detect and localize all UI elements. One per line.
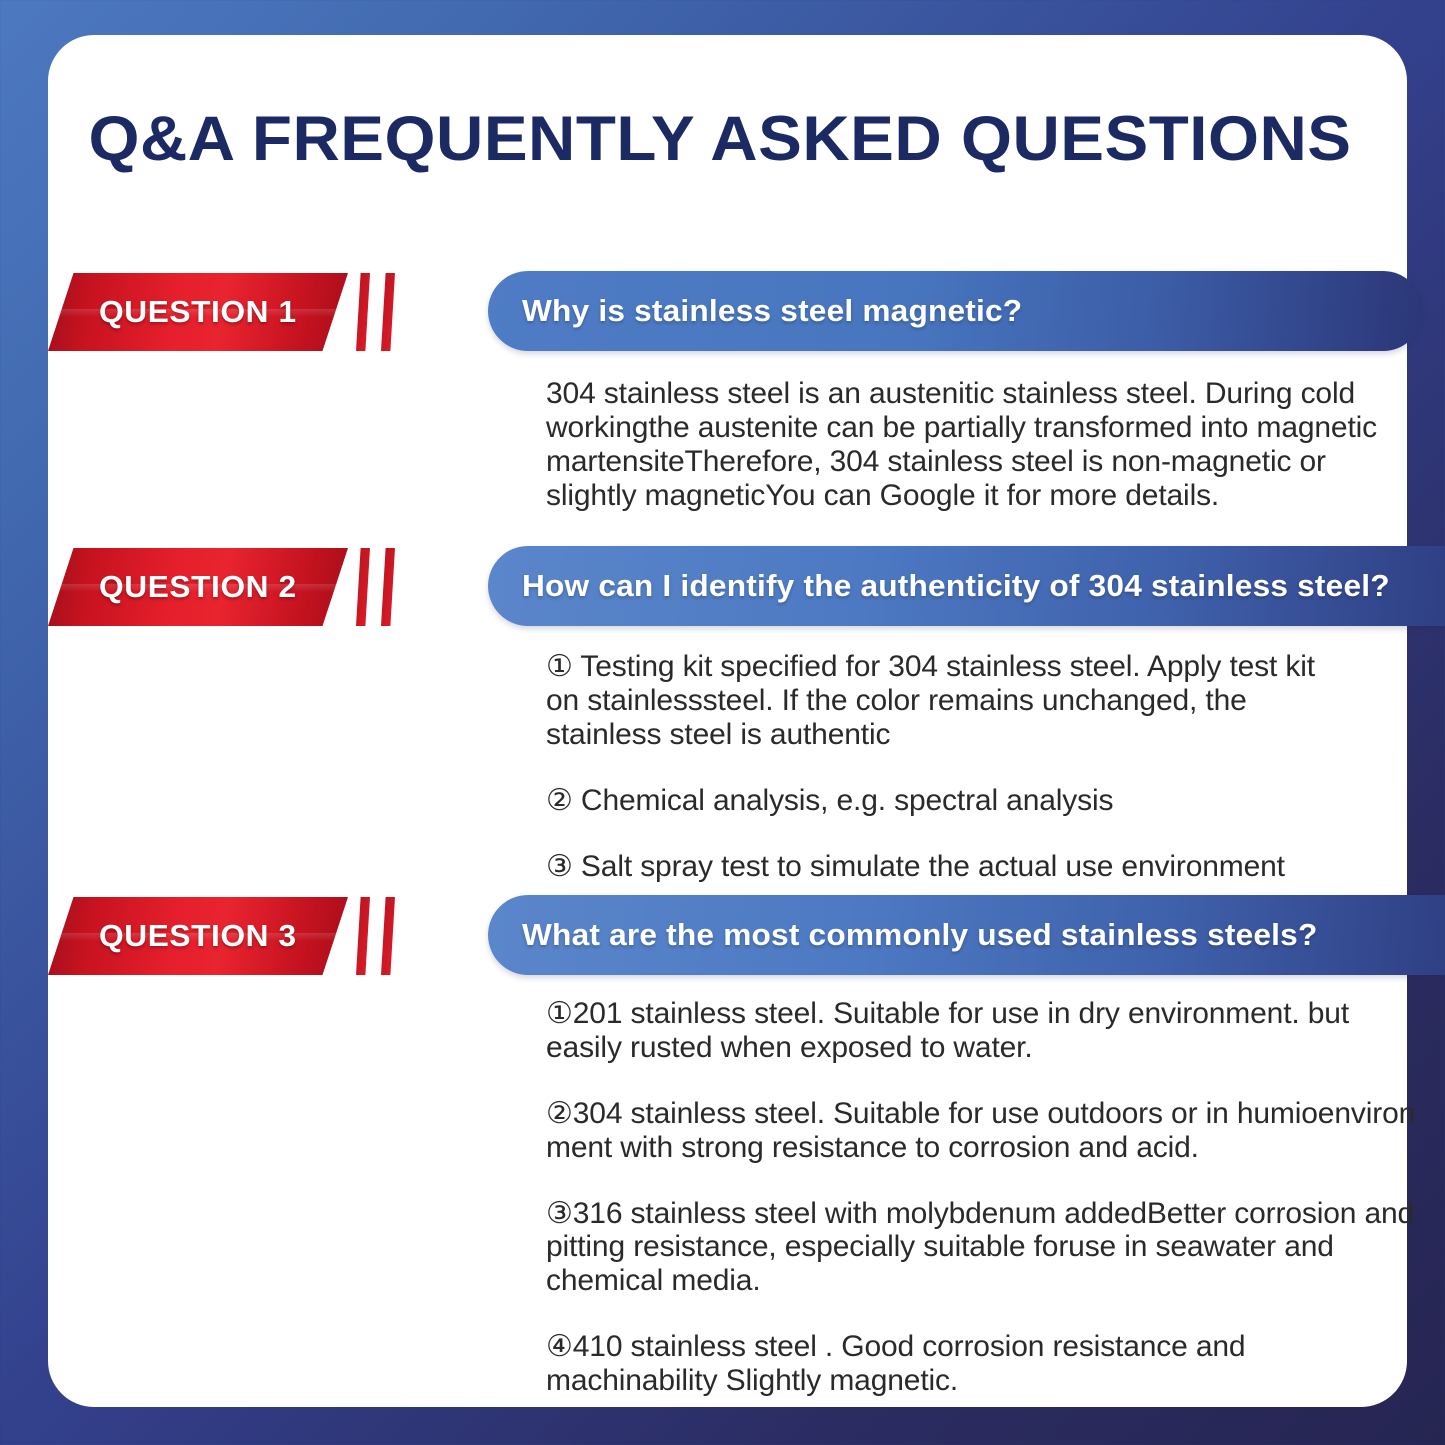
question-badge-label-1: QUESTION 1 (99, 294, 297, 330)
answer-body-3: ①201 stainless steel. Suitable for use i… (546, 997, 1416, 1398)
slash-decoration-icon (356, 897, 370, 975)
answer-list-item: ②304 stainless steel. Suitable for use o… (546, 1097, 1416, 1165)
faq-banner-2: QUESTION 2 How can I identify the authen… (48, 548, 1407, 626)
question-text-2: How can I identify the authenticity of 3… (522, 568, 1390, 604)
slash-decoration-icon (356, 273, 370, 351)
slash-decoration-icon (381, 548, 395, 626)
page-background: Q&A FREQUENTLY ASKED QUESTIONS QUESTION … (0, 0, 1445, 1445)
faq-item-1: QUESTION 1 Why is stainless steel magnet… (48, 273, 1407, 351)
question-badge-1[interactable]: QUESTION 1 (48, 273, 348, 351)
answer-body-2: ① Testing kit specified for 304 stainles… (546, 650, 1336, 883)
question-pill-1[interactable]: Why is stainless steel magnetic? (488, 271, 1423, 351)
answer-list-item: ④410 stainless steel . Good corrosion re… (546, 1330, 1416, 1398)
question-badge-label-2: QUESTION 2 (99, 569, 297, 605)
answer-list-item: ①201 stainless steel. Suitable for use i… (546, 997, 1416, 1065)
question-text-1: Why is stainless steel magnetic? (522, 293, 1022, 329)
faq-item-2: QUESTION 2 How can I identify the authen… (48, 548, 1407, 626)
faq-item-3: QUESTION 3 What are the most commonly us… (48, 897, 1407, 975)
slash-decoration-icon (356, 548, 370, 626)
answer-list-item: ② Chemical analysis, e.g. spectral analy… (546, 784, 1336, 818)
question-text-3: What are the most commonly used stainles… (522, 917, 1317, 953)
faq-banner-3: QUESTION 3 What are the most commonly us… (48, 897, 1407, 975)
answer-paragraph: 304 stainless steel is an austenitic sta… (546, 377, 1401, 513)
page-title: Q&A FREQUENTLY ASKED QUESTIONS (75, 103, 1365, 175)
answer-list-item: ① Testing kit specified for 304 stainles… (546, 650, 1336, 752)
question-badge-label-3: QUESTION 3 (99, 918, 297, 954)
question-pill-2[interactable]: How can I identify the authenticity of 3… (488, 546, 1445, 626)
answer-list-item: ③316 stainless steel with molybdenum add… (546, 1197, 1416, 1299)
faq-card: Q&A FREQUENTLY ASKED QUESTIONS QUESTION … (48, 35, 1407, 1407)
slash-decoration-icon (381, 897, 395, 975)
slash-decoration-icon (381, 273, 395, 351)
faq-banner-1: QUESTION 1 Why is stainless steel magnet… (48, 273, 1407, 351)
question-pill-3[interactable]: What are the most commonly used stainles… (488, 895, 1445, 975)
question-badge-2[interactable]: QUESTION 2 (48, 548, 348, 626)
answer-body-1: 304 stainless steel is an austenitic sta… (546, 377, 1401, 513)
question-badge-3[interactable]: QUESTION 3 (48, 897, 348, 975)
answer-list-item: ③ Salt spray test to simulate the actual… (546, 850, 1336, 884)
